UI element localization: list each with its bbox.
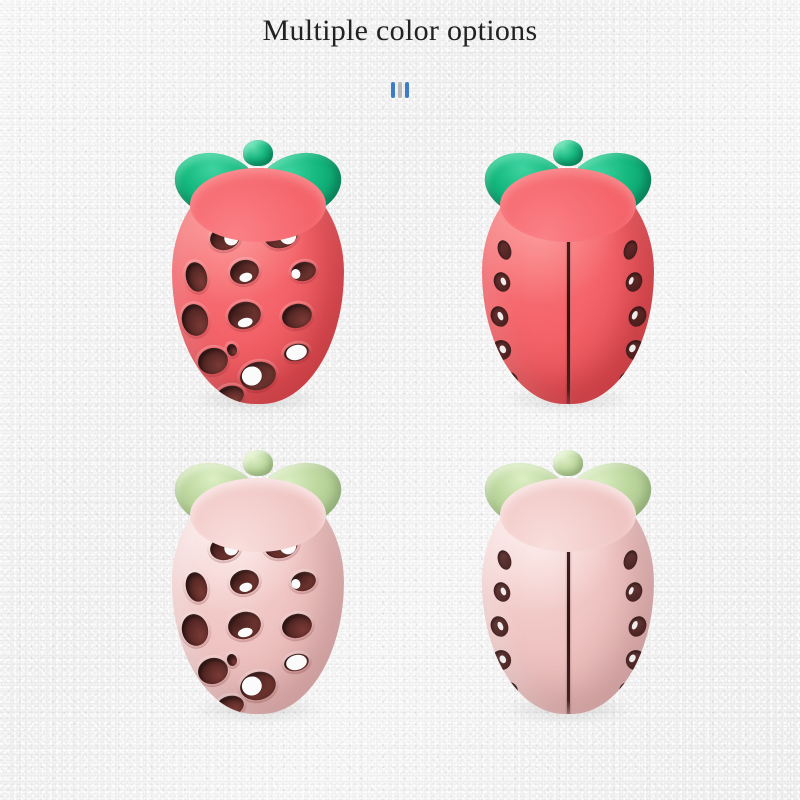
page-root: Multiple color options [0, 0, 800, 800]
product-pink-side[interactable] [478, 448, 658, 718]
perforation-hole [179, 611, 212, 648]
perforation-hole [289, 569, 318, 593]
perforation-hole [228, 257, 262, 287]
perforation-hole [289, 259, 318, 283]
leaf-cutout [500, 478, 636, 552]
perforation-hole [214, 693, 246, 714]
product-pink-front[interactable] [168, 448, 348, 718]
perforation-hole [280, 611, 315, 642]
stem-green [478, 138, 658, 218]
vent-slot [491, 270, 513, 295]
perforation-hole [225, 608, 264, 642]
perforation-hole [214, 383, 246, 404]
perforation-hole [228, 567, 262, 597]
perforation-hole [237, 668, 279, 704]
vent-slot [625, 303, 649, 329]
vent-slot [495, 548, 514, 571]
vent-slot [488, 337, 514, 364]
vent-slot [623, 580, 645, 605]
divider-bar-2 [398, 82, 402, 98]
perforation-hole [195, 655, 230, 687]
vent-slot [487, 303, 511, 329]
perforation-hole [195, 345, 230, 377]
background-texture [0, 0, 800, 800]
vent-slot [488, 647, 514, 674]
stem-knob [243, 450, 273, 476]
stem-sage [478, 448, 658, 528]
product-red-side[interactable] [478, 138, 658, 408]
product-red-front[interactable] [168, 138, 348, 408]
perforation-hole [282, 341, 310, 364]
page-title: Multiple color options [0, 14, 800, 48]
vent-slot [491, 580, 513, 605]
vent-slot [487, 613, 511, 639]
perforation-hole [183, 570, 211, 604]
perforation-hole [280, 301, 315, 332]
leaf-cutout [190, 168, 326, 242]
leaf-cutout [500, 168, 636, 242]
vent-slot [622, 337, 648, 364]
perforation-hole [183, 260, 211, 294]
stem-green [168, 138, 348, 218]
perforation-hole [237, 358, 279, 394]
perforation-hole [225, 298, 264, 332]
stem-knob [553, 450, 583, 476]
perforation-hole [282, 651, 310, 674]
divider-bar-3 [405, 82, 409, 98]
vent-slot [622, 647, 648, 674]
vent-slot [623, 270, 645, 295]
vent-slot [621, 548, 640, 571]
stem-knob [243, 140, 273, 166]
stem-knob [553, 140, 583, 166]
vent-slot [495, 238, 514, 261]
perforation-hole [226, 653, 239, 667]
vent-slot [621, 238, 640, 261]
stem-sage [168, 448, 348, 528]
three-bar-divider [0, 82, 800, 98]
divider-bar-1 [391, 82, 395, 98]
leaf-cutout [190, 478, 326, 552]
perforation-hole [179, 301, 212, 338]
perforation-hole [226, 343, 239, 357]
vent-slot [625, 613, 649, 639]
